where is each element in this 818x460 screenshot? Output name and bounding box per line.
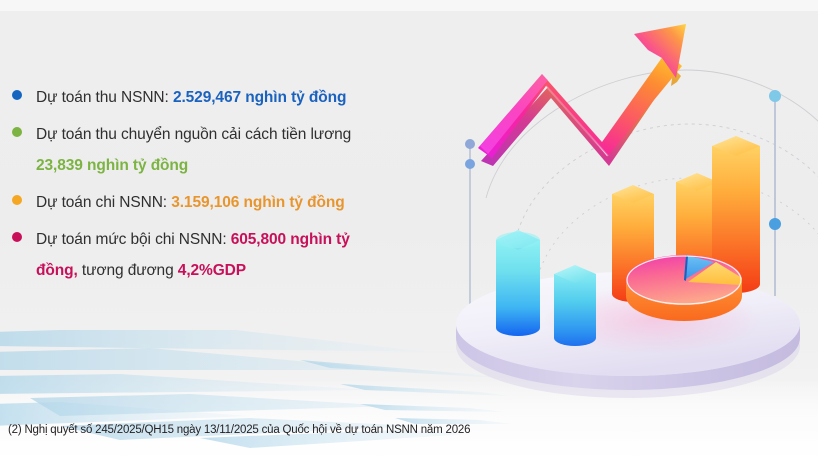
bullet-dot-icon bbox=[12, 127, 22, 137]
list-item: Dự toán thu NSNN: 2.529,467 nghìn tỷ đồn… bbox=[8, 82, 458, 113]
bullet-value: 23,839 nghìn tỷ đồng bbox=[36, 150, 458, 181]
bullet-label: Dự toán thu chuyển nguồn cải cách tiền l… bbox=[36, 126, 351, 143]
bullet-value-cont: đồng, bbox=[36, 262, 78, 279]
accent-dot-left-top bbox=[465, 139, 475, 149]
list-item: Dự toán mức bội chi NSNN: 605,800 nghìn … bbox=[8, 224, 458, 286]
bullet-text: Dự toán chi NSNN: 3.159,106 nghìn tỷ đồn… bbox=[36, 187, 458, 218]
bullet-dot-icon bbox=[12, 195, 22, 205]
bullet-value: 2.529,467 nghìn tỷ đồng bbox=[173, 89, 346, 106]
accent-dot-right-top bbox=[769, 90, 781, 102]
footnote: (2) Nghị quyết số 245/2025/QH15 ngày 13/… bbox=[8, 424, 470, 436]
bullet-dot-icon bbox=[12, 90, 22, 100]
bullet-tail-value: 4,2%GDP bbox=[178, 262, 246, 279]
bullet-label: Dự toán chi NSNN: bbox=[36, 194, 171, 211]
accent-line-left bbox=[465, 139, 475, 308]
accent-dot-left-bottom bbox=[465, 159, 475, 169]
text-content: Dự toán thu NSNN: 2.529,467 nghìn tỷ đồn… bbox=[0, 0, 470, 413]
list-item: Dự toán chi NSNN: 3.159,106 nghìn tỷ đồn… bbox=[8, 187, 458, 218]
slide-root: Dự toán thu NSNN: 2.529,467 nghìn tỷ đồn… bbox=[0, 0, 818, 460]
accent-line-right bbox=[769, 90, 781, 296]
bullet-text: Dự toán thu NSNN: 2.529,467 nghìn tỷ đồn… bbox=[36, 82, 458, 113]
bullet-value: 3.159,106 nghìn tỷ đồng bbox=[171, 194, 344, 211]
list-item: Dự toán thu chuyển nguồn cải cách tiền l… bbox=[8, 119, 458, 181]
bullet-value: 605,800 nghìn tỷ bbox=[231, 231, 350, 248]
bullet-continuation: đồng, tương đương 4,2%GDP bbox=[36, 255, 458, 286]
accent-dot-right-low bbox=[769, 218, 781, 230]
pie-chart bbox=[626, 255, 742, 321]
3d-growth-chart-illustration bbox=[438, 8, 818, 408]
bullet-label: Dự toán thu NSNN: bbox=[36, 89, 173, 106]
bar-cyan-short bbox=[554, 265, 596, 346]
bullet-text: Dự toán mức bội chi NSNN: 605,800 nghìn … bbox=[36, 224, 458, 286]
bullet-list: Dự toán thu NSNN: 2.529,467 nghìn tỷ đồn… bbox=[8, 82, 458, 292]
bullet-text: Dự toán thu chuyển nguồn cải cách tiền l… bbox=[36, 119, 458, 181]
bar-cyan-tall bbox=[496, 230, 540, 336]
bullet-label: Dự toán mức bội chi NSNN: bbox=[36, 231, 231, 248]
bullet-dot-icon bbox=[12, 232, 22, 242]
bullet-tail-label: tương đương bbox=[78, 262, 178, 279]
